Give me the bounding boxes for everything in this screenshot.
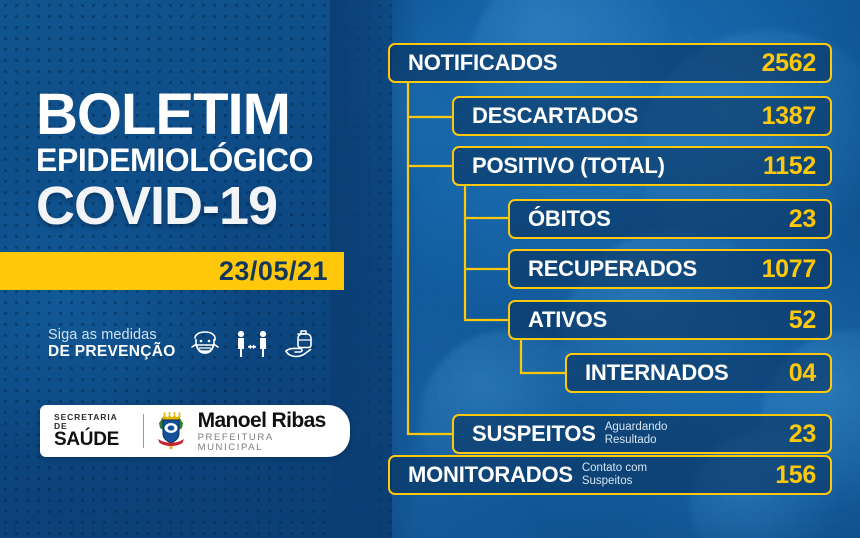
stat-row: RECUPERADOS1077	[508, 249, 832, 289]
municipal-coat-of-arms-icon	[154, 411, 188, 451]
hand-sanitizer-icon	[282, 327, 318, 361]
stat-value: 23	[789, 420, 816, 449]
stat-row: ATIVOS52	[508, 300, 832, 340]
face-mask-icon	[188, 327, 222, 361]
stat-label: POSITIVO (TOTAL)	[472, 153, 665, 179]
stat-value: 23	[789, 205, 816, 234]
stat-row: NOTIFICADOS2562	[388, 43, 832, 83]
stat-sublabel: Aguardando Resultado	[605, 421, 779, 447]
stat-label: ÓBITOS	[528, 206, 611, 232]
stat-label: DESCARTADOS	[472, 103, 638, 129]
stat-label: SUSPEITOS	[472, 421, 596, 447]
stat-value: 04	[789, 359, 816, 388]
bulletin-infographic: BOLETIM EPIDEMIOLÓGICO COVID-19 23/05/21…	[0, 0, 860, 538]
city-subtitle: PREFEITURA MUNICIPAL	[198, 433, 340, 452]
stat-value: 2562	[762, 49, 816, 78]
title-boletim: BOLETIM	[36, 88, 366, 141]
stat-value: 1152	[763, 152, 816, 181]
stat-label: RECUPERADOS	[528, 256, 697, 282]
prevention-block: Siga as medidas DE PREVENÇÃO	[48, 318, 348, 370]
title-epidemiologico: EPIDEMIOLÓGICO	[36, 143, 366, 178]
date-banner: 23/05/21	[0, 252, 344, 290]
stat-row: POSITIVO (TOTAL)1152	[452, 146, 832, 186]
stat-label: INTERNADOS	[585, 360, 728, 386]
stat-value: 156	[775, 461, 816, 490]
bulletin-date: 23/05/21	[219, 256, 328, 287]
stat-label: NOTIFICADOS	[408, 50, 557, 76]
page-title: BOLETIM EPIDEMIOLÓGICO COVID-19	[36, 88, 366, 232]
city-logo: Manoel Ribas PREFEITURA MUNICIPAL	[198, 410, 340, 452]
stat-value: 1077	[762, 255, 816, 284]
title-covid19: COVID-19	[36, 181, 366, 232]
logo-bar: SECRETARIA DE SAÚDE Manoel Ribas	[40, 405, 350, 457]
stat-row: ÓBITOS23	[508, 199, 832, 239]
secretaria-label: SECRETARIA DE	[54, 413, 133, 430]
stat-row: DESCARTADOS1387	[452, 96, 832, 136]
prevention-line1: Siga as medidas	[48, 327, 176, 344]
stat-row: SUSPEITOSAguardando Resultado23	[452, 414, 832, 454]
logo-divider	[143, 414, 144, 448]
secretaria-saude-logo: SECRETARIA DE SAÚDE	[54, 413, 133, 449]
stat-value: 52	[789, 306, 816, 335]
stat-label: MONITORADOS	[408, 462, 573, 488]
saude-label: SAÚDE	[54, 430, 133, 449]
stat-row: INTERNADOS04	[565, 353, 832, 393]
stat-row: MONITORADOSContato com Suspeitos156	[388, 455, 832, 495]
stat-value: 1387	[762, 102, 816, 131]
city-name: Manoel Ribas	[198, 410, 340, 431]
stat-sublabel: Contato com Suspeitos	[582, 462, 765, 488]
stat-label: ATIVOS	[528, 307, 607, 333]
prevention-line2: DE PREVENÇÃO	[48, 343, 176, 361]
social-distance-icon	[233, 327, 271, 361]
